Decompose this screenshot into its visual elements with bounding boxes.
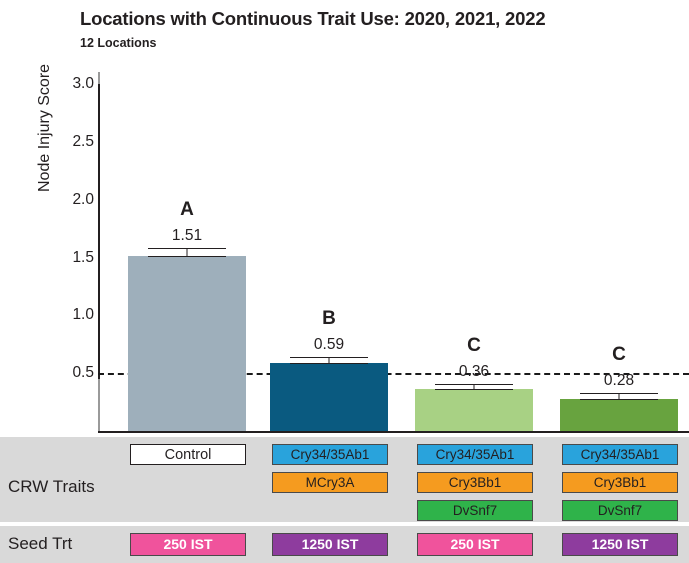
x-axis-line (98, 431, 689, 433)
trait-cell: DvSnf7 (417, 500, 533, 521)
y-axis-line-dark (98, 84, 100, 379)
bar-value-label: 0.36 (415, 363, 533, 381)
error-bar-cap-bottom (580, 399, 658, 400)
error-bar-stem (329, 357, 330, 363)
error-bar (435, 384, 513, 390)
seed-trt-panel: Seed Trt 250 IST1250 IST250 IST1250 IST (0, 526, 689, 563)
error-bar-stem (619, 393, 620, 399)
trait-cell: Cry34/35Ab1 (417, 444, 533, 465)
y-axis-title: Node Injury Score (36, 64, 54, 192)
y-tick-label: 3.0 (54, 75, 94, 93)
error-bar (148, 248, 226, 256)
error-bar (580, 393, 658, 399)
trait-cell: DvSnf7 (562, 500, 678, 521)
trait-cell: Cry3Bb1 (562, 472, 678, 493)
trait-cell: Cry3Bb1 (417, 472, 533, 493)
trait-cell: MCry3A (272, 472, 388, 493)
y-tick-label: 1.5 (54, 249, 94, 267)
chart-page: Locations with Continuous Trait Use: 202… (0, 0, 689, 563)
bar (270, 363, 388, 431)
error-bar (290, 357, 368, 363)
bar (128, 256, 246, 431)
trait-cell: Cry34/35Ab1 (272, 444, 388, 465)
significance-letter: A (128, 199, 246, 221)
seed-trt-cell: 1250 IST (562, 533, 678, 556)
significance-letter: B (270, 308, 388, 330)
seed-trt-cell: 1250 IST (272, 533, 388, 556)
trait-cell: Control (130, 444, 246, 465)
trait-cell: Cry34/35Ab1 (562, 444, 678, 465)
crw-traits-panel: CRW Traits ControlCry34/35Ab1MCry3ACry34… (0, 437, 689, 522)
error-bar-cap-bottom (148, 256, 226, 257)
y-tick-label: 2.5 (54, 133, 94, 151)
page-title: Locations with Continuous Trait Use: 202… (80, 8, 689, 30)
seed-trt-cell: 250 IST (130, 533, 246, 556)
error-bar-cap-bottom (290, 363, 368, 364)
error-bar-stem (187, 248, 188, 256)
error-bar-stem (474, 384, 475, 390)
y-tick-label: 1.0 (54, 306, 94, 324)
bar-value-label: 0.28 (560, 372, 678, 390)
seed-trt-label: Seed Trt (8, 534, 72, 554)
bar-value-label: 1.51 (128, 227, 246, 245)
error-bar-cap-bottom (435, 389, 513, 390)
seed-trt-cell: 250 IST (417, 533, 533, 556)
page-subtitle: 12 Locations (80, 36, 156, 50)
significance-letter: C (560, 344, 678, 366)
bar (560, 399, 678, 431)
significance-letter: C (415, 335, 533, 357)
y-tick-label: 0.5 (54, 364, 94, 382)
crw-traits-label: CRW Traits (8, 477, 95, 497)
y-tick-label: 2.0 (54, 191, 94, 209)
bar (415, 389, 533, 431)
bar-value-label: 0.59 (270, 336, 388, 354)
plot-area: Node Injury Score 0.51.01.52.02.53.0 1.5… (98, 72, 689, 433)
